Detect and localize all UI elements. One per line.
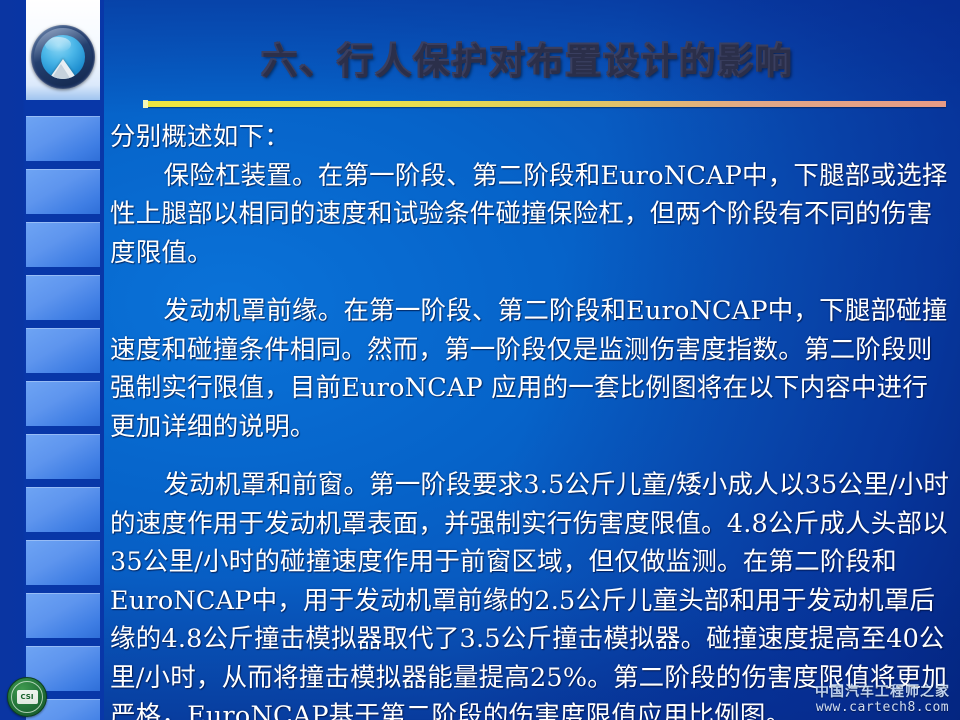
filmstrip-cell — [26, 381, 100, 426]
watermark-url: www.cartech8.com — [815, 700, 950, 716]
body-lead: 分别概述如下： — [110, 118, 950, 157]
badge-mountain-shape-small — [50, 64, 72, 79]
filmstrip-cell — [26, 487, 100, 532]
filmstrip-cell — [26, 434, 100, 479]
filmstrip-cell — [26, 275, 100, 320]
slide-body: 分别概述如下： 保险杠装置。在第一阶段、第二阶段和EuroNCAP中，下腿部或选… — [110, 118, 950, 720]
title-divider — [146, 101, 946, 107]
slide-title-text: 六、行人保护对布置设计的影响 — [261, 34, 793, 90]
badge-gloss — [45, 37, 71, 52]
body-paragraph-3: 发动机罩和前窗。第一阶段要求3.5公斤儿童/矮小成人以35公里/小时的速度作用于… — [110, 466, 950, 720]
filmstrip-cell — [26, 169, 100, 214]
watermark-chinese: 中国汽车工程师之家 — [815, 684, 950, 700]
slide-canvas: 六、行人保护对布置设计的影响 分别概述如下： 保险杠装置。在第一阶段、第二阶段和… — [0, 0, 960, 720]
watermark: 中国汽车工程师之家 www.cartech8.com — [815, 684, 950, 716]
filmstrip-column — [26, 0, 100, 720]
brand-logo — [26, 14, 100, 100]
filmstrip-cell — [26, 222, 100, 267]
filmstrip-cell — [26, 593, 100, 638]
body-paragraph-1: 保险杠装置。在第一阶段、第二阶段和EuroNCAP中，下腿部或选择性上腿部以相同… — [110, 157, 950, 273]
left-filmstrip-band — [0, 0, 104, 720]
filmstrip-cell — [26, 116, 100, 161]
geely-badge-icon — [31, 25, 95, 89]
filmstrip-cell — [26, 540, 100, 585]
body-paragraph-2: 发动机罩前缘。在第一阶段、第二阶段和EuroNCAP中，下腿部碰撞速度和碰撞条件… — [110, 292, 950, 446]
filmstrip-cell — [26, 328, 100, 373]
seal-ring — [11, 681, 43, 713]
badge-inner-disc — [41, 35, 85, 79]
slide-title: 六、行人保护对布置设计的影响 — [108, 34, 946, 92]
green-seal-icon: CSI — [7, 677, 47, 717]
